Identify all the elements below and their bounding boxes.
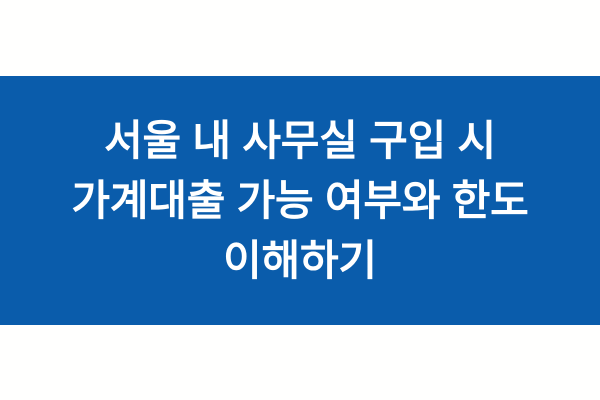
heading-line-3: 이해하기 bbox=[71, 231, 528, 291]
heading-line-2: 가계대출 가능 여부와 한도 bbox=[71, 171, 528, 231]
banner-heading: 서울 내 사무실 구입 시 가계대출 가능 여부와 한도 이해하기 bbox=[71, 111, 528, 291]
title-banner: 서울 내 사무실 구입 시 가계대출 가능 여부와 한도 이해하기 bbox=[0, 76, 600, 325]
page-canvas: 서울 내 사무실 구입 시 가계대출 가능 여부와 한도 이해하기 bbox=[0, 0, 600, 400]
heading-line-1: 서울 내 사무실 구입 시 bbox=[71, 111, 528, 171]
